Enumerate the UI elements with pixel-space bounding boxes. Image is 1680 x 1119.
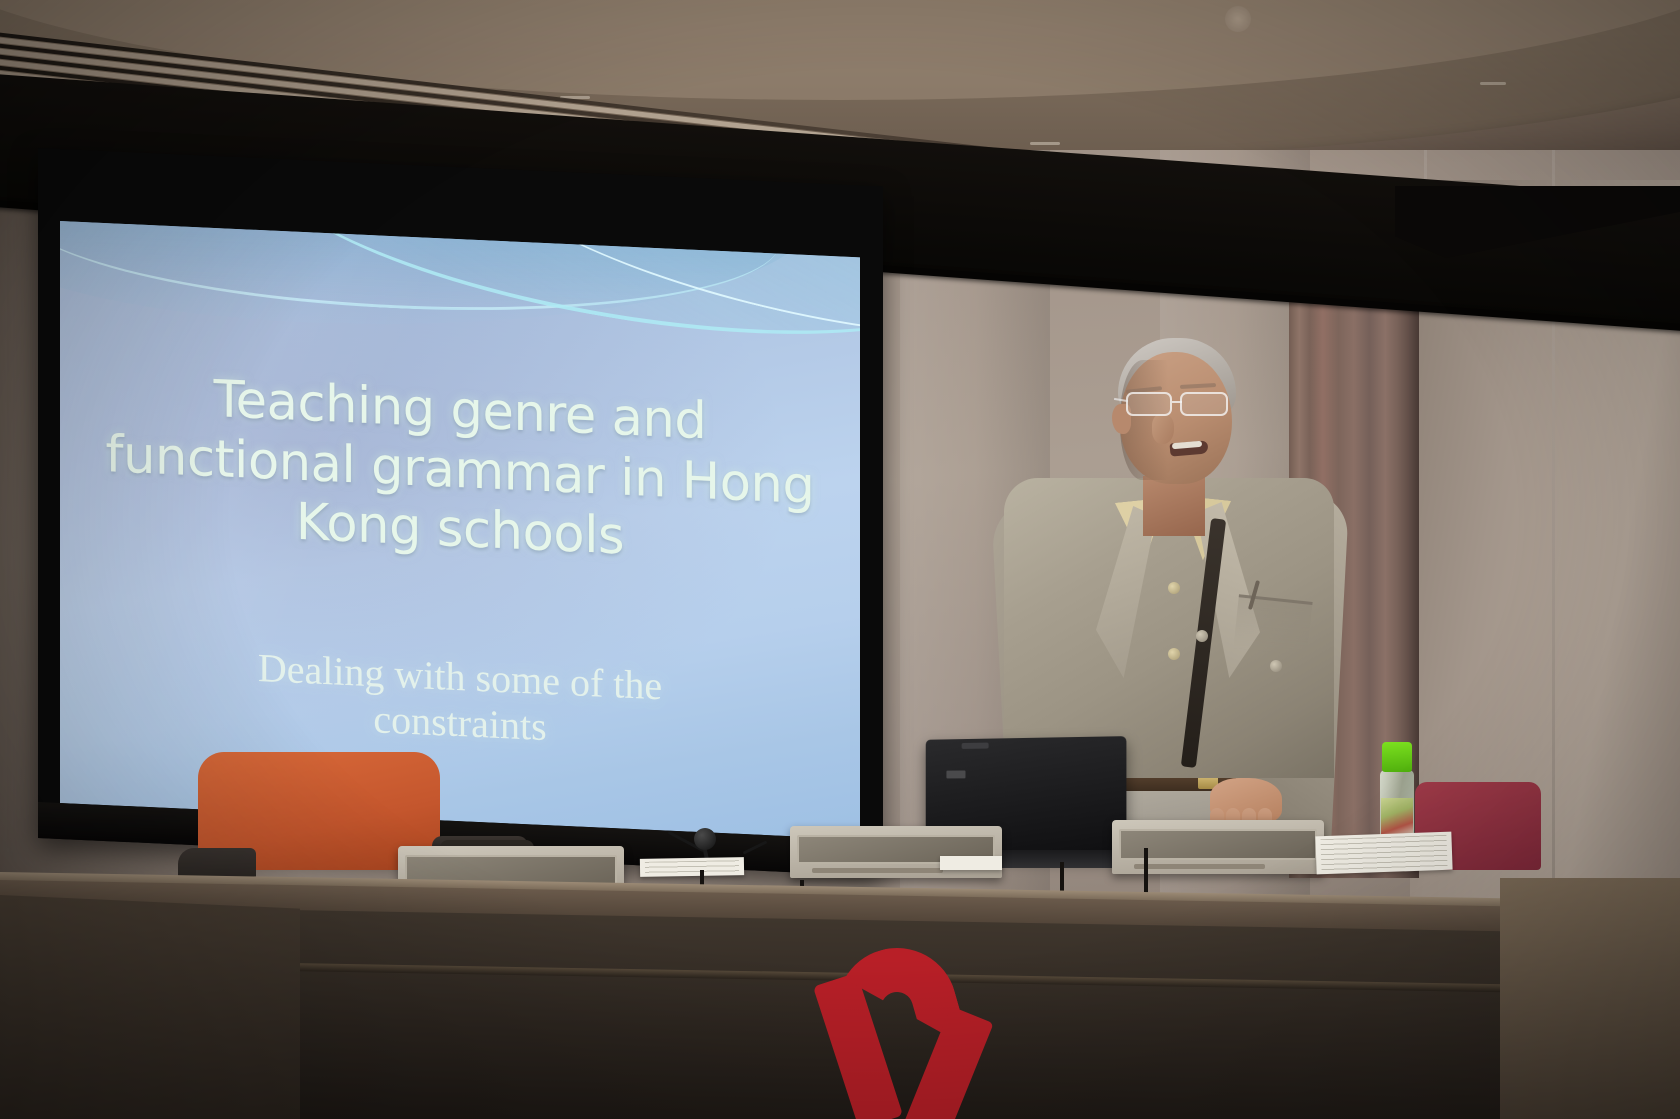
laptop-logo: [946, 770, 965, 778]
projection-screen: Teaching genre and functional grammar in…: [38, 148, 883, 876]
monitor-slot: [812, 868, 943, 873]
paper-lines: [1320, 835, 1447, 871]
papers: [940, 856, 1002, 870]
bottle-label: [1381, 798, 1413, 836]
lens-left: [1126, 392, 1172, 416]
jacket-button: [1270, 660, 1282, 672]
ceiling-seam: [1030, 142, 1060, 145]
ceiling-seam: [1480, 82, 1506, 85]
papers: [1315, 832, 1452, 875]
microphone-icon: [694, 828, 716, 850]
desk-monitor[interactable]: [790, 826, 1002, 878]
jacket-button: [1196, 630, 1208, 642]
ceiling-light-fixture: [1225, 6, 1251, 32]
glasses-bridge: [1172, 401, 1182, 403]
lens-right: [1180, 392, 1228, 416]
podium-logo: [775, 940, 1035, 1119]
nose: [1152, 414, 1174, 444]
shirt-button: [1168, 582, 1180, 594]
screen-glare: [60, 221, 860, 839]
neck: [1143, 476, 1205, 536]
jacket-pocket: [1233, 594, 1312, 655]
projected-slide: Teaching genre and functional grammar in…: [60, 221, 860, 839]
desk-left-section: [0, 895, 300, 1119]
lecture-hall-photo: Teaching genre and functional grammar in…: [0, 0, 1680, 1119]
bottle-cap: [1382, 742, 1412, 772]
laptop-hinge: [962, 743, 989, 749]
shirt-button: [1168, 648, 1180, 660]
desk-right-section: [1500, 878, 1680, 1119]
eyeglasses-icon: [1118, 392, 1240, 418]
